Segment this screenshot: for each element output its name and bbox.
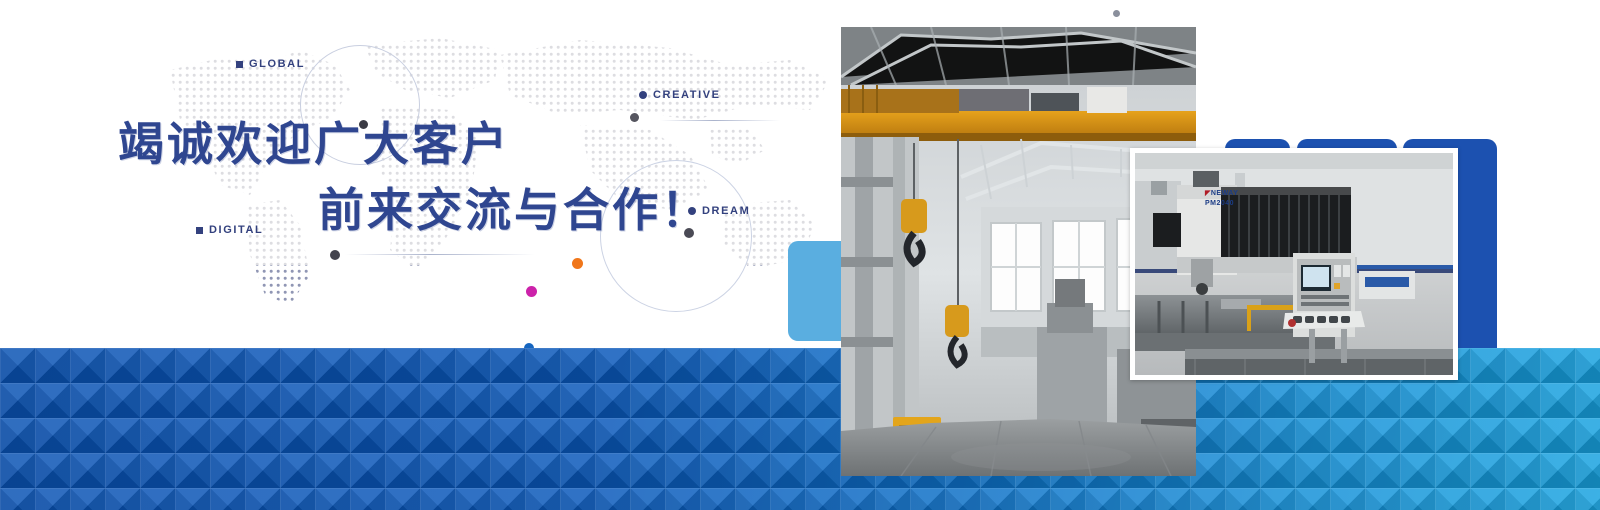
map-label-creative: CREATIVE [639,89,721,101]
circle-bullet-icon [639,91,647,99]
headline: 竭诚欢迎广大客户 前来交流与合作！ [118,112,758,244]
promo-banner: GLOBAL CREATIVE DIGITAL DREAM 竭诚欢迎广大客户 前… [0,0,1600,510]
map-label-global: GLOBAL [236,58,305,70]
square-bullet-icon [236,61,243,68]
headline-line-1: 竭诚欢迎广大客户 [118,119,510,170]
machine-brand-label: ◤NEWAY PM2040 [1205,189,1238,209]
photo-cnc-machine-image [1135,153,1453,375]
map-label-text: GLOBAL [249,58,305,70]
map-node-dot [330,250,340,260]
machine-brand-line1: NEWAY [1211,190,1239,197]
decorative-line [345,254,535,255]
photo-cnc-machine: ◤NEWAY PM2040 [1130,148,1458,380]
map-label-text: CREATIVE [653,89,721,101]
magenta-dot [526,286,537,297]
orange-dot [572,258,583,269]
headline-line-2: 前来交流与合作！ [118,178,758,244]
map-node-dot [1113,10,1120,17]
machine-brand-line2: PM2040 [1205,200,1234,207]
